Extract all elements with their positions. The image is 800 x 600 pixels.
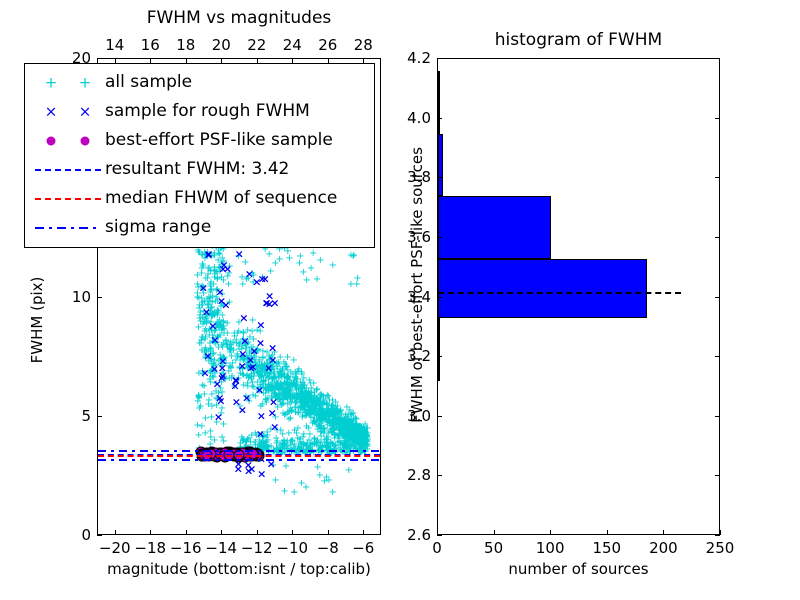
scatter-point: + [362,434,370,440]
scatter-point: + [338,434,346,440]
scatter-point: + [352,439,360,445]
left-xtick [292,530,293,535]
scatter-point: + [323,410,331,416]
scatter-point: + [348,426,356,432]
scatter-point: + [333,423,341,429]
scatter-point: + [335,431,343,437]
scatter-point: + [279,391,287,397]
scatter-point: + [283,389,291,395]
scatter-point: + [360,429,368,435]
scatter-point: + [269,377,277,383]
scatter-point: + [260,371,268,377]
scatter-point: + [314,400,322,406]
scatter-point: + [239,282,247,288]
scatter-point: × [223,266,232,273]
scatter-point: + [214,258,222,264]
legend-item-4[interactable]: median FHWM of sequence [25,184,374,213]
scatter-point: + [216,252,224,258]
scatter-point: + [276,257,284,263]
scatter-point: + [242,439,250,445]
scatter-point: + [249,273,257,279]
scatter-point: + [263,372,271,378]
scatter-point: + [259,440,267,446]
scatter-point: + [360,429,368,435]
scatter-point: + [339,418,347,424]
scatter-point: + [341,433,349,439]
scatter-point: + [310,442,318,448]
scatter-point: + [292,380,300,386]
scatter-point: + [349,430,357,436]
scatter-point: + [239,331,247,337]
scatter-point: + [328,411,336,417]
scatter-point: + [244,357,252,363]
scatter-point: + [315,423,323,429]
scatter-point: + [363,434,371,440]
scatter-point: + [211,310,219,316]
right-ytick [437,118,442,119]
scatter-point: + [321,396,329,402]
scatter-point: + [307,266,315,272]
scatter-point: + [226,350,234,356]
scatter-point: + [316,412,324,418]
scatter-point: + [203,276,211,282]
scatter-point: + [288,397,296,403]
legend-item-0[interactable]: ++all sample [25,68,374,97]
scatter-point: + [322,437,330,443]
scatter-point: + [319,426,327,432]
scatter-point: + [351,443,359,449]
scatter-point: + [216,269,224,275]
scatter-point: + [236,404,244,410]
scatter-point: + [319,394,327,400]
scatter-point: + [344,422,352,428]
scatter-point: + [199,253,207,259]
left-ytick [97,297,102,298]
scatter-point: + [275,386,283,392]
scatter-point: + [264,396,272,402]
scatter-point: + [328,418,336,424]
scatter-point: + [324,414,332,420]
scatter-point: + [314,402,322,408]
scatter-point: + [235,329,243,335]
scatter-point: + [271,391,279,397]
scatter-point: + [241,260,249,266]
scatter-point: + [268,353,276,359]
scatter-point: + [320,409,328,415]
scatter-point: + [201,431,209,437]
scatter-point: + [325,419,333,425]
scatter-point: + [346,443,354,449]
scatter-point: + [363,435,371,441]
scatter-point: + [278,388,286,394]
scatter-point: × [215,394,224,401]
scatter-point: + [299,441,307,447]
scatter-point: + [341,436,349,442]
scatter-point: + [316,444,324,450]
scatter-point: + [199,264,207,270]
legend[interactable]: ++all sample××sample for rough FWHMbest-… [24,63,375,248]
histogram-bar [438,259,647,319]
scatter-point: + [343,419,351,425]
legend-item-5[interactable]: sigma range [25,213,374,242]
scatter-point: + [280,413,288,419]
scatter-point: + [326,409,334,415]
scatter-point: + [320,414,328,420]
scatter-point: + [274,387,282,393]
scatter-point: + [280,372,288,378]
scatter-point: + [241,346,249,352]
histogram-plot-axes[interactable] [437,58,720,535]
scatter-point: + [316,424,324,430]
scatter-point: + [342,429,350,435]
scatter-point: + [219,422,227,428]
scatter-point: + [273,405,281,411]
scatter-point: + [299,405,307,411]
scatter-point: + [323,403,331,409]
scatter-point: + [285,383,293,389]
scatter-point: + [335,434,343,440]
scatter-point: + [229,340,237,346]
scatter-point: × [267,460,276,467]
scatter-point: × [244,461,253,468]
scatter-point: + [250,385,258,391]
scatter-point: + [335,418,343,424]
scatter-point: + [201,348,209,354]
scatter-point: + [210,375,218,381]
scatter-point: + [329,403,337,409]
scatter-point: + [206,371,214,377]
scatter-point: + [239,358,247,364]
scatter-point: + [298,442,306,448]
scatter-point: + [332,423,340,429]
scatter-point: + [359,429,367,435]
scatter-point: + [343,435,351,441]
scatter-point: + [328,428,336,434]
scatter-point: + [336,439,344,445]
scatter-point: + [304,410,312,416]
scatter-point: + [218,326,226,332]
scatter-point: + [331,400,339,406]
scatter-point: + [335,425,343,431]
scatter-point: + [302,398,310,404]
scatter-point: + [286,409,294,415]
scatter-point: + [287,383,295,389]
scatter-point: + [199,287,207,293]
scatter-point: + [332,426,340,432]
scatter-point: + [254,366,262,372]
scatter-point: + [327,441,335,447]
scatter-point: + [328,442,336,448]
scatter-point: + [350,433,358,439]
left-ytick [97,416,102,417]
scatter-point: + [220,356,228,362]
scatter-point: + [308,421,316,427]
scatter-point: + [347,425,355,431]
scatter-point: + [276,396,284,402]
right-ytick [437,297,442,298]
scatter-point: + [209,351,217,357]
scatter-point: + [260,364,268,370]
scatter-point: + [241,440,249,446]
scatter-point: + [287,439,295,445]
scatter-point: + [271,261,279,267]
scatter-point: + [291,376,299,382]
scatter-point: + [343,405,351,411]
scatter-point: + [352,417,360,423]
scatter-point: × [242,395,251,402]
right-xtick [607,530,608,535]
scatter-point: + [301,402,309,408]
scatter-point: + [297,394,305,400]
scatter-point: + [272,395,280,401]
scatter-point: + [303,393,311,399]
scatter-point: + [289,381,297,387]
legend-item-2[interactable]: best-effort PSF-like sample [25,126,374,155]
scatter-point: + [296,395,304,401]
scatter-point: + [320,411,328,417]
scatter-point: + [246,364,254,370]
scatter-point: × [257,413,266,420]
scatter-point: + [296,254,304,260]
scatter-point: + [262,374,270,380]
scatter-point: + [341,415,349,421]
right-ytick [437,177,442,178]
scatter-point: + [263,430,271,436]
scatter-point: + [346,422,354,428]
scatter-point: + [213,276,221,282]
scatter-point: + [301,394,309,400]
scatter-point: + [227,366,235,372]
scatter-point: + [326,411,334,417]
scatter-point: + [262,367,270,373]
scatter-point: + [233,331,241,337]
scatter-point: + [324,406,332,412]
scatter-point: + [337,408,345,414]
scatter-point: + [263,443,271,449]
scatter-point: + [314,438,322,444]
scatter-point: + [310,405,318,411]
scatter-point: + [340,442,348,448]
scatter-point: + [303,403,311,409]
scatter-point: + [283,391,291,397]
scatter-point: + [307,391,315,397]
scatter-point: + [200,384,208,390]
scatter-point: + [334,423,342,429]
scatter-point: + [274,382,282,388]
scatter-point: + [329,403,337,409]
scatter-point: + [206,346,214,352]
scatter-point: + [305,408,313,414]
scatter-point: + [244,276,252,282]
scatter-point: + [257,375,265,381]
scatter-point: + [357,433,365,439]
scatter-point: + [259,356,267,362]
scatter-point: + [293,400,301,406]
scatter-point: + [329,423,337,429]
scatter-point: + [316,410,324,416]
scatter-point: + [212,295,220,301]
scatter-point: + [301,414,309,420]
scatter-point: + [354,434,362,440]
scatter-point: + [218,328,226,334]
scatter-point: + [268,358,276,364]
scatter-point: + [358,438,366,444]
scatter-point: + [329,263,337,269]
scatter-point: + [210,312,218,318]
scatter-point: + [302,278,310,284]
scatter-point: + [318,427,326,433]
scatter-point: + [355,437,363,443]
scatter-point: + [324,410,332,416]
scatter-point: + [280,439,288,445]
right-xtick-label: 150 [577,539,637,557]
scatter-point: + [261,378,269,384]
scatter-point: + [305,438,313,444]
scatter-point: + [271,392,279,398]
scatter-point: + [323,410,331,416]
scatter-point: + [318,403,326,409]
scatter-point: + [331,418,339,424]
scatter-point: + [270,376,278,382]
scatter-point: + [292,372,300,378]
scatter-point: + [335,434,343,440]
scatter-point: + [340,421,348,427]
scatter-point: + [350,440,358,446]
scatter-point: + [277,371,285,377]
scatter-point: + [264,365,272,371]
scatter-point: + [208,339,216,345]
scatter-point: + [328,409,336,415]
scatter-point: + [266,368,274,374]
legend-item-label: sample for rough FWHM [105,103,310,120]
scatter-point: + [353,429,361,435]
scatter-point: + [313,399,321,405]
scatter-point: + [292,393,300,399]
scatter-point: + [311,404,319,410]
scatter-point: + [235,366,243,372]
scatter-point: + [216,333,224,339]
scatter-point: + [262,385,270,391]
scatter-point: + [286,416,294,422]
scatter-point: + [346,437,354,443]
scatter-point: + [263,361,271,367]
scatter-point: + [353,422,361,428]
scatter-point: + [344,420,352,426]
scatter-point: + [198,284,206,290]
scatter-point: + [328,422,336,428]
scatter-point: + [291,384,299,390]
scatter-point: + [361,422,369,428]
scatter-point: + [204,312,212,318]
scatter-point: + [361,430,369,436]
scatter-point: + [199,291,207,297]
scatter-point: + [201,337,209,343]
scatter-point: + [357,442,365,448]
scatter-point: + [257,443,265,449]
scatter-point: + [252,363,260,369]
scatter-point: + [251,364,259,370]
scatter-point: + [255,372,263,378]
scatter-point: + [357,437,365,443]
scatter-point: + [212,322,220,328]
scatter-point: + [237,354,245,360]
scatter-point: + [310,436,318,442]
scatter-point: + [208,311,216,317]
right-xtick-label: 50 [464,539,524,557]
scatter-point: + [285,393,293,399]
scatter-point: + [359,437,367,443]
scatter-point: + [290,442,298,448]
scatter-point: + [195,433,203,439]
scatter-point: + [331,416,339,422]
left-ytick [97,535,102,536]
scatter-point: + [286,395,294,401]
legend-item-3[interactable]: resultant FWHM: 3.42 [25,155,374,184]
scatter-point: + [255,442,263,448]
scatter-point: + [234,376,242,382]
scatter-point: + [356,425,364,431]
scatter-point: × [270,300,279,307]
scatter-point: + [333,420,341,426]
scatter-point: + [202,316,210,322]
scatter-point: × [270,423,279,430]
scatter-point: + [345,418,353,424]
scatter-point: + [312,413,320,419]
scatter-point: + [247,375,255,381]
scatter-point: + [330,432,338,438]
legend-item-1[interactable]: ××sample for rough FWHM [25,97,374,126]
scatter-point: + [353,438,361,444]
scatter-point: + [346,431,354,437]
scatter-point: + [262,435,270,441]
scatter-point: + [343,421,351,427]
figure-canvas: FWHM vs magnitudes +++++++++++++++++++++… [0,0,800,600]
scatter-point: + [207,280,215,286]
scatter-point: + [293,377,301,383]
scatter-point: + [343,440,351,446]
scatter-point: + [306,393,314,399]
scatter-point: + [292,431,300,437]
scatter-point: + [278,397,286,403]
scatter-point: + [307,406,315,412]
scatter-point: + [243,342,251,348]
scatter-point: + [344,432,352,438]
scatter-point: + [342,423,350,429]
scatter-point: + [304,395,312,401]
scatter-point: + [356,437,364,443]
scatter-point: + [300,397,308,403]
scatter-point: + [261,382,269,388]
scatter-point: + [207,347,215,353]
scatter-point: + [216,386,224,392]
scatter-point: + [219,355,227,361]
scatter-point: + [249,351,257,357]
scatter-point: + [338,423,346,429]
scatter-point: + [200,299,208,305]
scatter-point: + [290,381,298,387]
scatter-point: + [320,426,328,432]
scatter-point: + [297,442,305,448]
scatter-point: + [209,367,217,373]
scatter-point: + [248,380,256,386]
scatter-point: + [358,442,366,448]
scatter-point: + [266,382,274,388]
scatter-point: + [329,423,337,429]
scatter-point: + [310,420,318,426]
scatter-point: + [244,360,252,366]
scatter-point: + [204,402,212,408]
scatter-point: + [317,407,325,413]
